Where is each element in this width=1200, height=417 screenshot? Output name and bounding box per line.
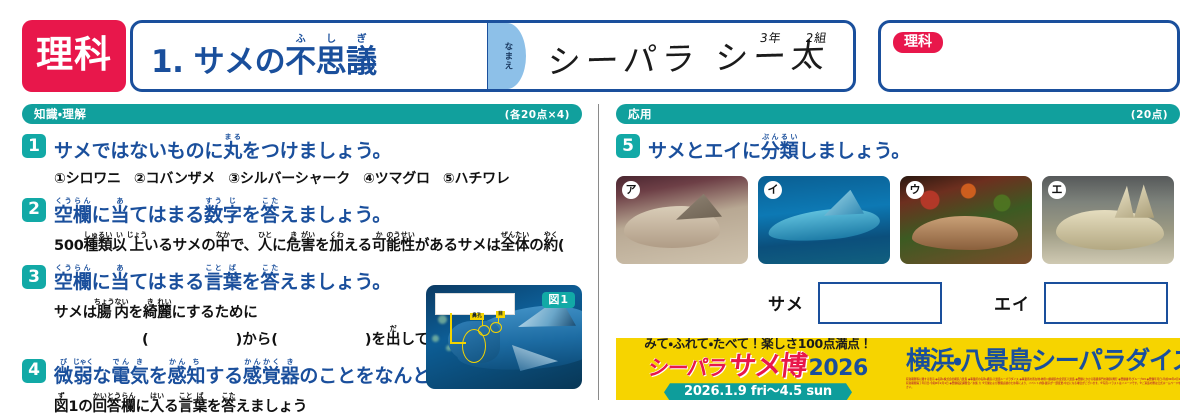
section-header-knowledge: 知識・理解 (各20点×4) bbox=[22, 104, 582, 124]
question-body: サメとエイに分ぶん類るいしましょう。 bbox=[648, 133, 1180, 164]
section-title: 知識・理解 bbox=[34, 106, 86, 122]
answer-label-shark: サメ bbox=[768, 290, 804, 315]
photo-card-c[interactable]: ウ bbox=[900, 176, 1032, 264]
banner-fineprint: 有効期限等に関する表示 ●名称・株式会社横浜八景島 ●事業所の名称・横浜・八景島… bbox=[906, 378, 1180, 390]
answer-label-ray: エイ bbox=[994, 290, 1030, 315]
banner-date-ribbon: 2026.1.9 fri〜4.5 sun bbox=[664, 383, 852, 400]
question-title: 空くう欄らんに当あてはまる数すう字じを答こたえましょう。 bbox=[54, 197, 642, 228]
photo-badge-d: エ bbox=[1048, 181, 1066, 199]
option-3[interactable]: ③シルバーシャーク bbox=[228, 171, 350, 187]
photo-card-b[interactable]: イ bbox=[758, 176, 890, 264]
question-number-badge: 5 bbox=[616, 134, 640, 158]
page-title: 1. サメの不ふ思し議ぎ bbox=[151, 34, 377, 78]
score-box-badge: 理科 bbox=[893, 32, 943, 53]
answer-input-shark[interactable] bbox=[818, 282, 942, 324]
question-title: サメではないものに丸まるをつけましょう。 bbox=[54, 133, 582, 164]
subject-badge: 理科 bbox=[22, 20, 126, 92]
photo-card-d[interactable]: エ bbox=[1042, 176, 1174, 264]
grade-value: 3年 bbox=[759, 31, 783, 45]
figure-1-hammerhead-shark: 鼻孔 目 図1 bbox=[426, 285, 582, 389]
photo-badge-b: イ bbox=[764, 181, 782, 199]
section-title: 応用 bbox=[628, 106, 652, 122]
banner-park-name: 横浜・八景島シーパラダイス bbox=[906, 348, 1180, 373]
option-2[interactable]: ②コバンザメ bbox=[134, 171, 215, 187]
question-5: 5 サメとエイに分ぶん類るいしましょう。 bbox=[616, 133, 1180, 164]
grade-class-value: 3年 2組 bbox=[758, 29, 828, 46]
annotation-label-nose: 鼻孔 bbox=[470, 313, 484, 320]
name-tab-label: なまえ bbox=[488, 23, 526, 89]
section-points: (20点) bbox=[1131, 107, 1168, 122]
question-number-badge: 1 bbox=[22, 134, 46, 158]
banner-catchcopy: みて・ふれて・たべて！楽しさ100点満点！ bbox=[644, 338, 871, 350]
class-value: 2組 bbox=[804, 31, 828, 45]
question-subtext: 図ず1の回かい答とう欄らんに入はいる言こと葉ばを答こたえましょう bbox=[54, 392, 582, 417]
student-name-field[interactable]: シーパラ シー太 3年 2組 bbox=[526, 23, 853, 89]
photo-card-row: ア イ ウ エ bbox=[616, 176, 1180, 264]
annotation-label-eye: 目 bbox=[496, 311, 505, 318]
question-options: ①シロワニ②コバンザメ③シルバーシャーク④ツマグロ⑤ハチワレ bbox=[54, 168, 582, 188]
question-body: 空くう欄らんに当あてはまる数すう字じを答こたえましょう。 500種しゅ類るい以い… bbox=[54, 197, 642, 256]
annotation-leader-line bbox=[450, 313, 452, 343]
banner-logo: シーパラ サメ博 2026 bbox=[648, 353, 868, 380]
option-1[interactable]: ①シロワニ bbox=[54, 171, 121, 187]
answer-input-ray[interactable] bbox=[1044, 282, 1168, 324]
logo-seapara: シーパラ bbox=[647, 358, 727, 379]
logo-samehaku: サメ博 bbox=[727, 353, 807, 380]
section-points: (各20点×4) bbox=[505, 107, 570, 122]
option-5[interactable]: ⑤ハチワレ bbox=[443, 171, 510, 187]
worksheet-header: 理科 1. サメの不ふ思し議ぎ なまえ シーパラ シー太 3年 2組 理科 bbox=[22, 20, 1180, 92]
score-box[interactable]: 理科 bbox=[878, 20, 1180, 92]
banner-event-logo-group: みて・ふれて・たべて！楽しさ100点満点！ シーパラ サメ博 2026 2026… bbox=[616, 338, 900, 400]
annotation-circle-eye bbox=[490, 322, 502, 333]
title-and-name-bar: 1. サメの不ふ思し議ぎ なまえ シーパラ シー太 3年 2組 bbox=[130, 20, 856, 92]
question-body: サメではないものに丸まるをつけましょう。 ①シロワニ②コバンザメ③シルバーシャー… bbox=[54, 133, 582, 188]
right-column: 応用 (20点) 5 サメとエイに分ぶん類るいしましょう。 ア イ ウ エ サ bbox=[616, 104, 1180, 324]
question-number-badge: 2 bbox=[22, 198, 46, 222]
photo-card-a[interactable]: ア bbox=[616, 176, 748, 264]
worksheet-page: 理科 1. サメの不ふ思し議ぎ なまえ シーパラ シー太 3年 2組 理科 bbox=[0, 0, 1200, 412]
option-4[interactable]: ④ツマグロ bbox=[363, 171, 430, 187]
title-cell: 1. サメの不ふ思し議ぎ bbox=[133, 23, 487, 89]
banner-park-group: 横浜・八景島シーパラダイス 有効期限等に関する表示 ●名称・株式会社横浜八景島 … bbox=[900, 338, 1180, 400]
section-header-application: 応用 (20点) bbox=[616, 104, 1180, 124]
photo-badge-a: ア bbox=[622, 181, 640, 199]
question-number-badge: 4 bbox=[22, 359, 46, 383]
annotation-circle-nose bbox=[478, 325, 490, 336]
logo-year: 2026 bbox=[809, 358, 868, 380]
question-title: サメとエイに分ぶん類るいしましょう。 bbox=[648, 133, 1180, 164]
question-subtext: 500種しゅ類るい以い上じょういるサメの中なかで、人ひとに危き害がいを加くわえる… bbox=[54, 231, 642, 256]
question-2: 2 空くう欄らんに当あてはまる数すう字じを答こたえましょう。 500種しゅ類るい… bbox=[22, 197, 582, 256]
classification-answer-row: サメ エイ bbox=[616, 282, 1180, 324]
event-banner[interactable]: みて・ふれて・たべて！楽しさ100点満点！ シーパラ サメ博 2026 2026… bbox=[616, 338, 1180, 400]
question-1: 1 サメではないものに丸まるをつけましょう。 ①シロワニ②コバンザメ③シルバーシ… bbox=[22, 133, 582, 188]
photo-badge-c: ウ bbox=[906, 181, 924, 199]
question-number-badge: 3 bbox=[22, 265, 46, 289]
figure-1-badge: 図1 bbox=[542, 292, 575, 308]
